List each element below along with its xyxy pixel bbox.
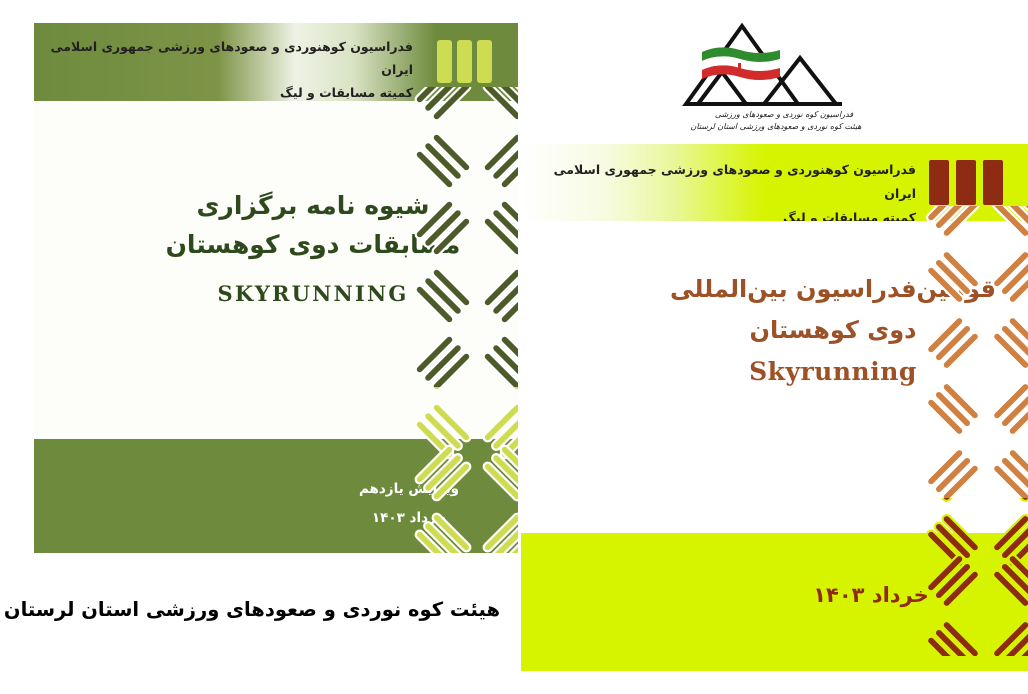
left-edition-label: ویرایش یازدهم xyxy=(334,475,484,504)
left-three-bars-emblem xyxy=(437,40,492,83)
emblem-bar xyxy=(983,160,1003,205)
right-three-bars-emblem xyxy=(929,160,1003,205)
left-title-line1: شیوه نامه برگزاری xyxy=(148,187,478,226)
logo-caption-line2: هیئت کوه نوردی و صعودهای ورزشی استان لرس… xyxy=(691,122,862,131)
left-header-text: فدراسیون کوهنوردی و صعودهای ورزشی جمهوری… xyxy=(48,35,413,104)
right-header-band: فدراسیون کوهنوردی و صعودهای ورزشی جمهوری… xyxy=(521,144,1028,221)
left-header-band: فدراسیون کوهنوردی و صعودهای ورزشی جمهوری… xyxy=(34,23,518,101)
document-cover-left[interactable]: فدراسیون کوهنوردی و صعودهای ورزشی جمهوری… xyxy=(34,23,518,553)
right-body: قوانین‌فدراسیون بین‌المللی دوی کوهستان S… xyxy=(521,221,1028,533)
right-footer-band: خرداد ۱۴۰۳ xyxy=(521,533,1028,671)
document-cover-right[interactable]: فدراسیون کوهنوردی و صعودهای ورزشی جمهوری… xyxy=(521,144,1028,671)
emblem-bar xyxy=(437,40,452,83)
mountain-federation-logo: فدراسیون کوه نوردی و صعودهای ورزشی هیئت … xyxy=(664,12,894,134)
logo-caption-line1: فدراسیون کوه نوردی و صعودهای ورزشی xyxy=(715,110,853,119)
emblem-bar xyxy=(457,40,472,83)
left-edition-block: ویرایش یازدهم خرداد ۱۴۰۳ xyxy=(334,475,484,533)
left-date-label: خرداد ۱۴۰۳ xyxy=(334,504,484,533)
right-date-label: خرداد ۱۴۰۳ xyxy=(756,573,986,618)
left-title-latin: SKYRUNNING xyxy=(148,281,478,306)
emblem-bar xyxy=(477,40,492,83)
right-date-block: خرداد ۱۴۰۳ xyxy=(756,573,986,618)
bottom-caption: هیئت کوه نوردی و صعودهای ورزشی استان لرس… xyxy=(0,598,500,621)
emblem-bar xyxy=(956,160,976,205)
iran-flag-ribbon xyxy=(702,47,780,80)
right-title-line1: قوانین‌فدراسیون بین‌المللی xyxy=(658,269,1008,310)
right-title-latin: Skyrunning xyxy=(658,357,1008,386)
right-header-text: فدراسیون کوهنوردی و صعودهای ورزشی جمهوری… xyxy=(535,158,916,229)
right-header-line1: فدراسیون کوهنوردی و صعودهای ورزشی جمهوری… xyxy=(554,162,916,201)
left-footer-band: ویرایش یازدهم خرداد ۱۴۰۳ xyxy=(34,439,518,553)
right-title-block: قوانین‌فدراسیون بین‌المللی دوی کوهستان S… xyxy=(658,269,1008,386)
page-canvas: فدراسیون کوهنوردی و صعودهای ورزشی جمهوری… xyxy=(0,0,1028,694)
left-title-block: شیوه نامه برگزاری مسابقات دوی کوهستان SK… xyxy=(148,187,478,306)
left-title-line2: مسابقات دوی کوهستان xyxy=(148,226,478,265)
emblem-bar xyxy=(929,160,949,205)
right-title-line2: دوی کوهستان xyxy=(658,310,1008,351)
left-header-line1: فدراسیون کوهنوردی و صعودهای ورزشی جمهوری… xyxy=(51,39,413,77)
left-body: شیوه نامه برگزاری مسابقات دوی کوهستان SK… xyxy=(34,101,518,439)
